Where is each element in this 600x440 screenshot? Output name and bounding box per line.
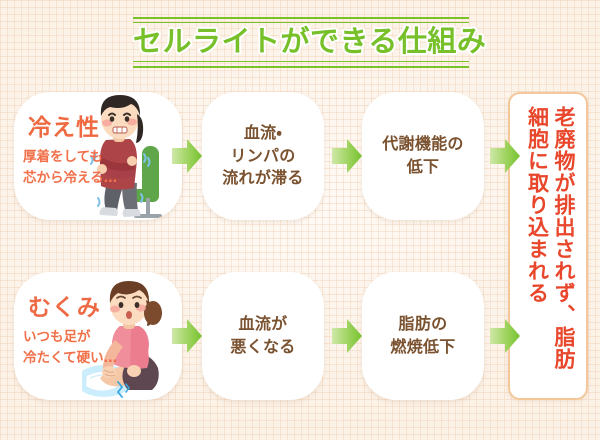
arrow-right-icon bbox=[490, 319, 520, 353]
title-rule-bottom-inner bbox=[133, 61, 469, 62]
cause-panel-hiesho: 冷え性 厚着をしても 芯から冷える… bbox=[14, 92, 182, 220]
flow-step-label: 血流・ リンパの 流れが滞る bbox=[222, 122, 304, 190]
infographic-canvas: セルライトができる仕組み 冷え性 厚着をしても 芯から冷える… bbox=[0, 0, 600, 440]
page-title-block: セルライトができる仕組み bbox=[133, 17, 469, 67]
flow-step-label: 血流が 悪くなる bbox=[230, 313, 295, 358]
flow-step-label: 代謝機能の 低下 bbox=[382, 133, 464, 178]
cause-panel-mukumi: むくみ いつも足が 冷たくて硬い… bbox=[14, 272, 182, 400]
flow-step-poor-circulation: 血流が 悪くなる bbox=[202, 272, 324, 400]
flow-step-metabolism-decline: 代謝機能の 低下 bbox=[362, 92, 484, 220]
arrow-right-icon bbox=[172, 139, 202, 173]
cause-subtext-hiesho: 厚着をしても 芯から冷える… bbox=[23, 147, 117, 189]
flow-step-fat-burning-decline: 脂肪の 燃焼低下 bbox=[362, 272, 484, 400]
cause-subtext-mukumi: いつも足が 冷たくて硬い… bbox=[23, 327, 117, 369]
title-rule-top-outer bbox=[133, 17, 469, 19]
arrow-right-icon bbox=[332, 139, 362, 173]
arrow-right-icon bbox=[490, 139, 520, 173]
result-panel: 老廃物が排出されず、脂肪細胞に取り込まれる bbox=[508, 92, 588, 400]
cause-heading-hiesho: 冷え性 bbox=[28, 108, 100, 142]
flow-step-label: 脂肪の 燃焼低下 bbox=[390, 313, 455, 358]
result-text: 老廃物が排出されず、脂肪細胞に取り込まれる bbox=[510, 94, 586, 398]
arrow-right-icon bbox=[172, 319, 202, 353]
page-title: セルライトができる仕組み bbox=[133, 22, 469, 61]
flow-step-blood-lymph-stagnation: 血流・ リンパの 流れが滞る bbox=[202, 92, 324, 220]
cause-heading-mukumi: むくみ bbox=[28, 288, 101, 322]
title-rule-bottom-outer bbox=[133, 66, 469, 68]
arrow-right-icon bbox=[332, 319, 362, 353]
